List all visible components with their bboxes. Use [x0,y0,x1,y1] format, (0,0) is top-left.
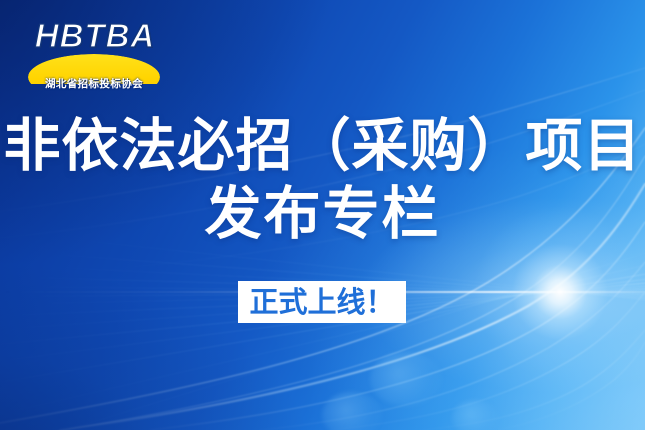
promo-banner: HBTBA 湖北省招标投标协会 非依法必招（采购）项目 发布专栏 正式上线！ [0,0,645,430]
status-badge-label: 正式上线！ [249,287,394,317]
headline: 非依法必招（采购）项目 发布专栏 [0,112,645,248]
bokeh-circle [370,352,442,406]
bokeh-circle [322,392,382,430]
hbtba-logo: HBTBA 湖北省招标投标协会 [24,18,164,86]
swoosh-curve [498,342,645,430]
light-ray [0,246,645,430]
headline-line-2: 发布专栏 [0,180,645,248]
status-badge: 正式上线！ [238,281,406,323]
headline-line-1: 非依法必招（采购）项目 [4,113,642,179]
bokeh-circle [452,400,498,430]
logo-organization-name: 湖北省招标投标协会 [24,78,164,90]
logo-wordmark: HBTBA [30,18,160,54]
